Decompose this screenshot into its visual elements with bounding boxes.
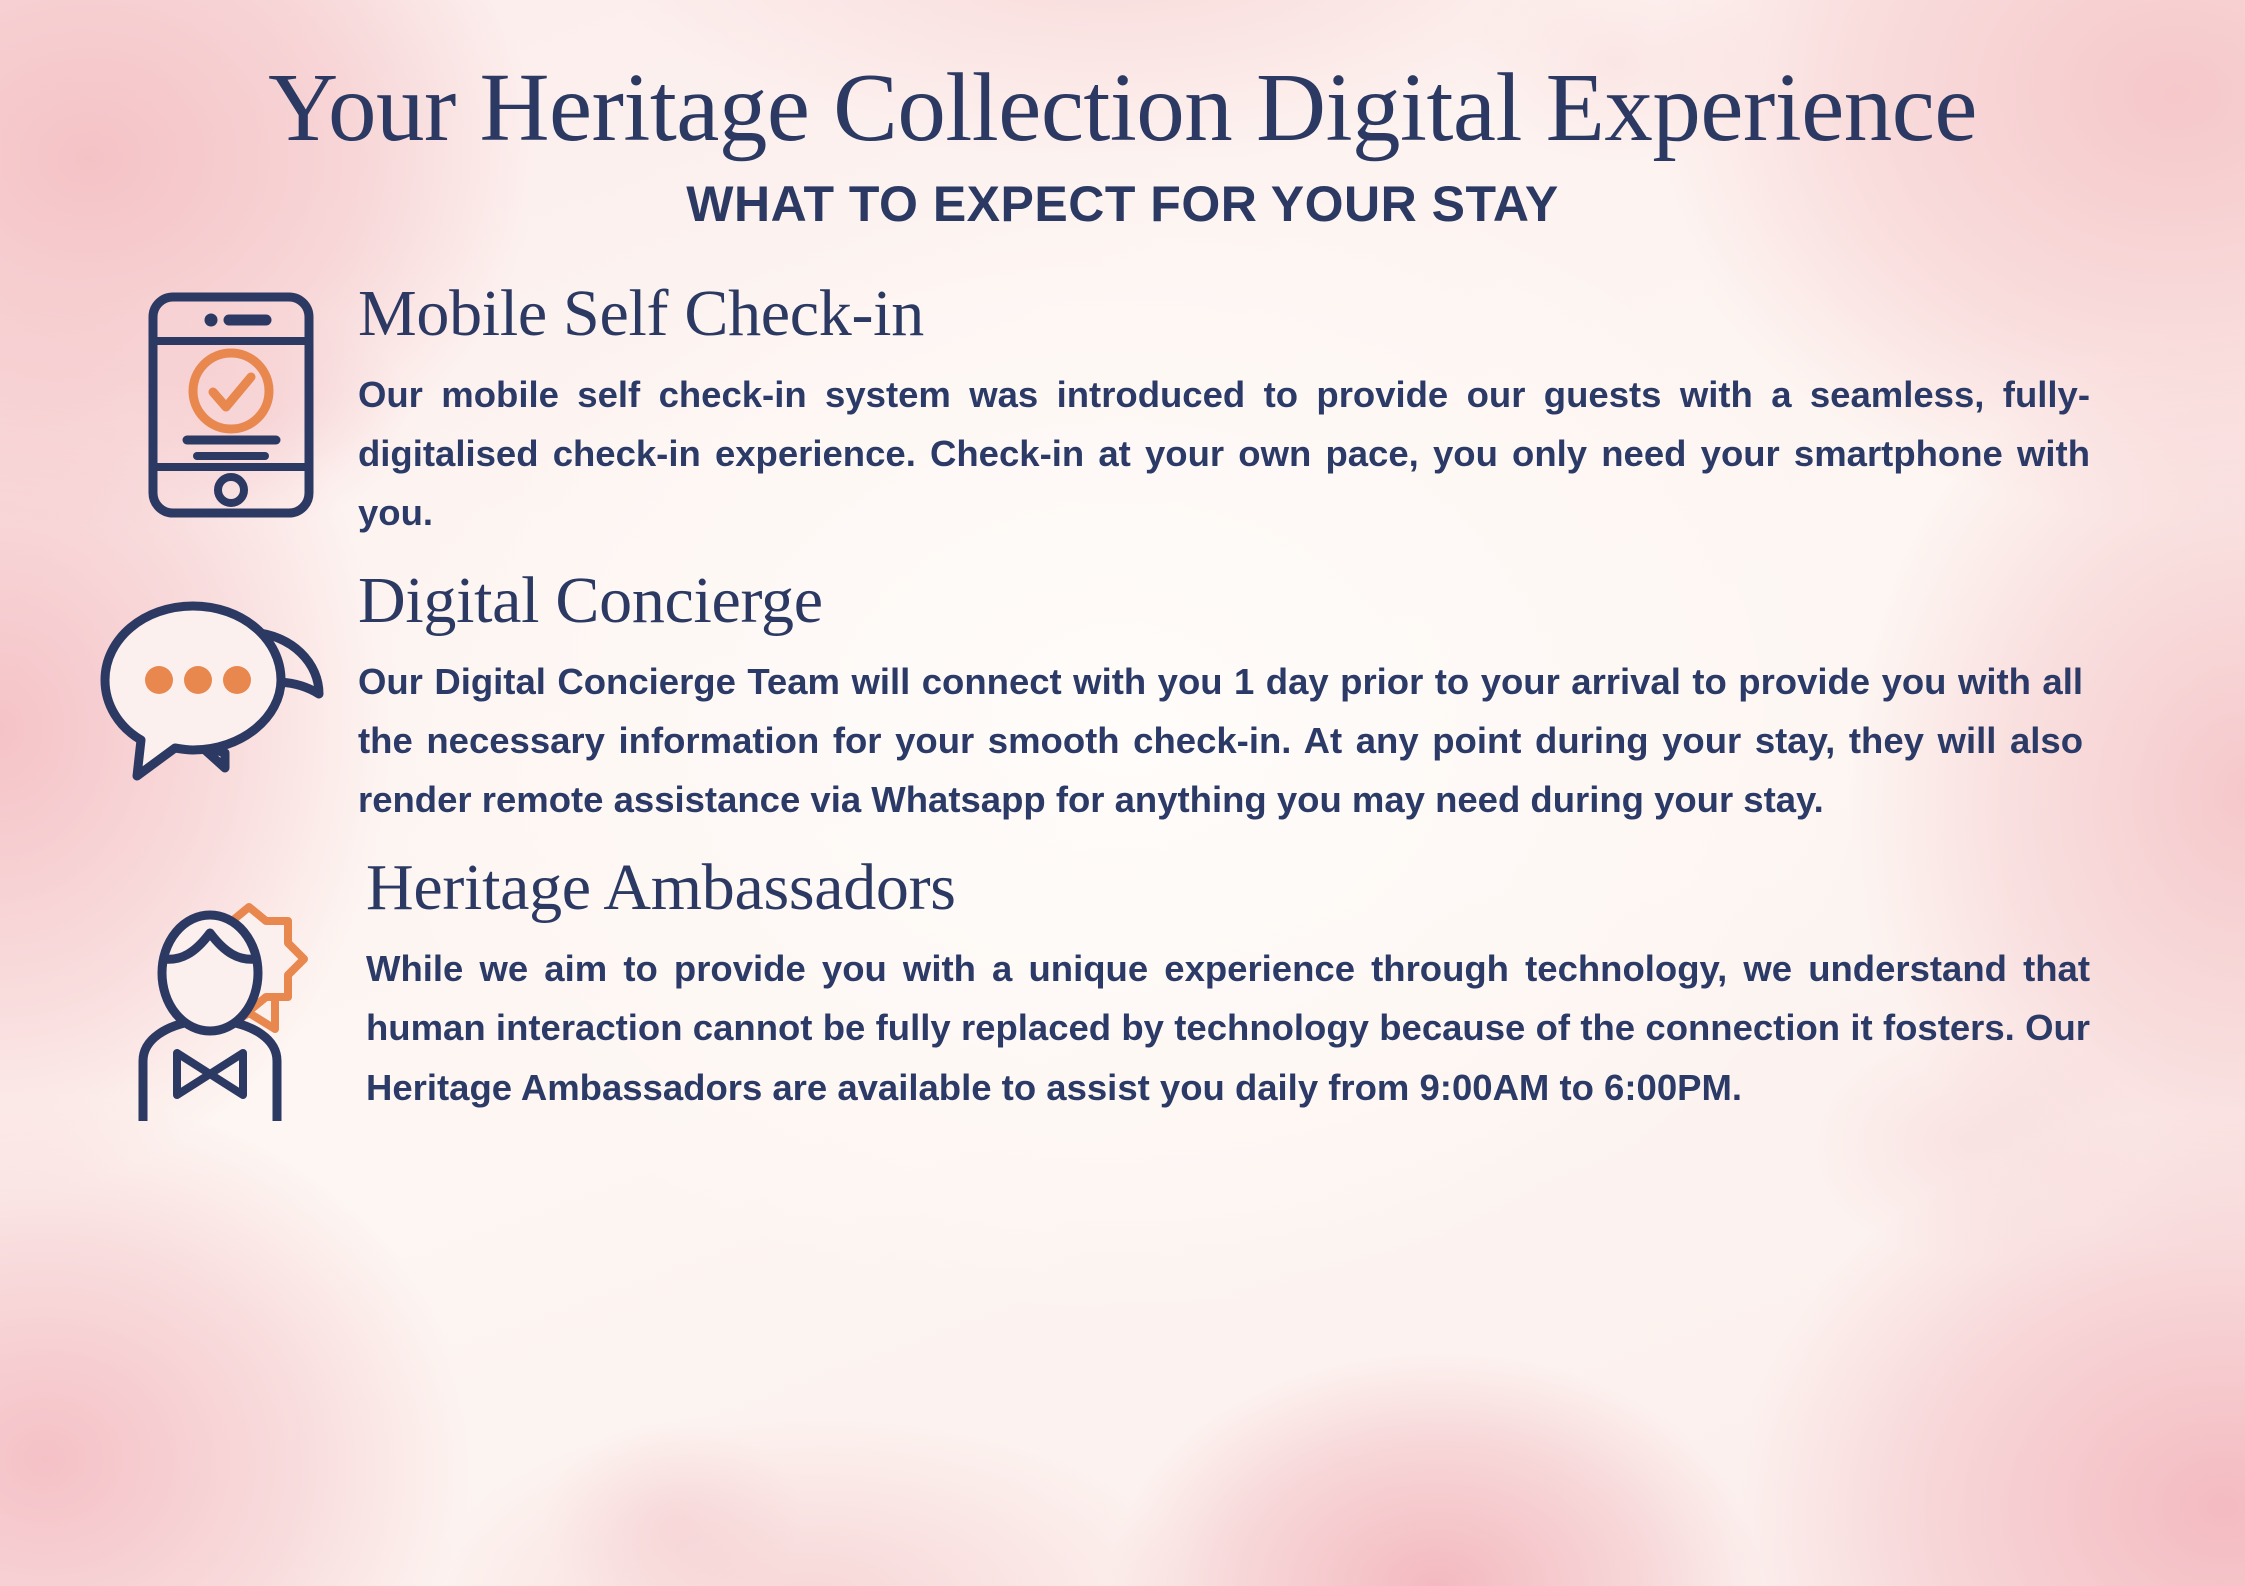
page-subtitle: WHAT TO EXPECT FOR YOUR STAY: [0, 175, 2245, 233]
text-column: Mobile Self Check-in Our mobile self che…: [334, 277, 2245, 542]
section-digital-concierge: Digital Concierge Our Digital Concierge …: [0, 564, 2245, 829]
ambassador-badge-icon: [123, 903, 345, 1125]
text-column: Digital Concierge Our Digital Concierge …: [338, 564, 2245, 829]
text-column: Heritage Ambassadors While we aim to pro…: [348, 851, 2245, 1116]
mobile-check-in-icon: [139, 289, 323, 521]
page-header: Your Heritage Collection Digital Experie…: [0, 0, 2245, 233]
section-body-mobile: Our mobile self check-in system was intr…: [358, 365, 2090, 542]
icon-column: [88, 564, 338, 790]
icon-column: [120, 851, 348, 1125]
section-heading-ambassadors: Heritage Ambassadors: [366, 851, 2090, 925]
page-title: Your Heritage Collection Digital Experie…: [0, 58, 2245, 159]
section-body-concierge: Our Digital Concierge Team will connect …: [358, 652, 2083, 829]
section-body-ambassadors: While we aim to provide you with a uniqu…: [366, 939, 2090, 1116]
section-heading-mobile: Mobile Self Check-in: [358, 277, 2090, 351]
section-heading-concierge: Digital Concierge: [358, 564, 2083, 638]
infographic-page: Your Heritage Collection Digital Experie…: [0, 0, 2245, 1586]
section-mobile-self-check-in: Mobile Self Check-in Our mobile self che…: [0, 277, 2245, 542]
speech-bubbles-icon: [97, 598, 329, 790]
section-heritage-ambassadors: Heritage Ambassadors While we aim to pro…: [0, 851, 2245, 1125]
sections-list: Mobile Self Check-in Our mobile self che…: [0, 277, 2245, 1126]
icon-column: [128, 277, 334, 521]
